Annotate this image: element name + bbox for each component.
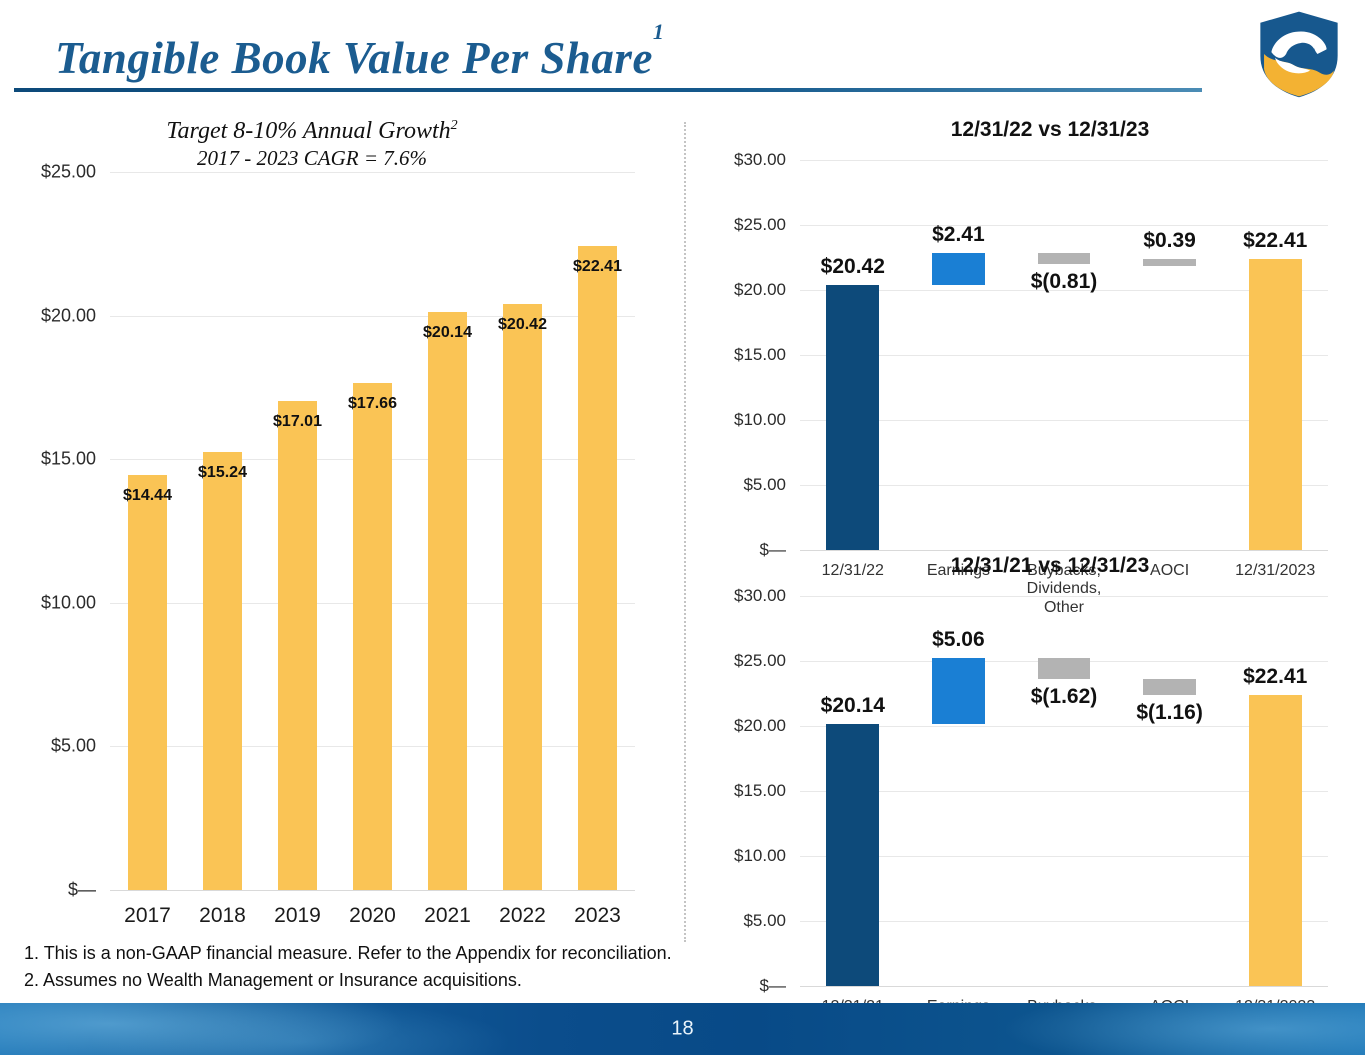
waterfall-bar-2 (932, 658, 985, 724)
y-axis-tick-label: $— (68, 880, 96, 901)
waterfall-value-label: $2.41 (932, 223, 985, 247)
waterfall-value-label: $5.06 (932, 628, 985, 652)
bar-2019 (278, 401, 317, 890)
footnote-1: 1. This is a non-GAAP financial measure.… (24, 940, 684, 967)
waterfall-2021-2023-chart: 12/31/21 vs 12/31/23 $—$5.00$10.00$15.00… (700, 548, 1340, 968)
y-axis-tick-label: $30.00 (734, 586, 786, 606)
bar-2022 (503, 304, 542, 890)
y-axis-tick-label: $— (760, 976, 786, 996)
y-axis-tick-label: $15.00 (734, 345, 786, 365)
waterfall-bar-5 (1249, 259, 1302, 550)
waterfall-value-label: $20.42 (821, 255, 885, 279)
tbvps-history-plot-area: $—$5.00$10.00$15.00$20.00$25.00$14.44201… (110, 172, 635, 890)
waterfall-bar-1 (826, 285, 879, 550)
waterfall-2021-2023-title: 12/31/21 vs 12/31/23 (760, 554, 1340, 578)
y-axis-tick-label: $20.00 (734, 280, 786, 300)
waterfall-value-label: $22.41 (1243, 665, 1307, 689)
y-axis-tick-label: $5.00 (51, 736, 96, 757)
waterfall-bar-4 (1143, 259, 1196, 266)
y-axis-tick-label: $5.00 (743, 911, 786, 931)
y-axis-tick-label: $10.00 (41, 592, 96, 613)
x-axis-label: 2018 (199, 904, 246, 928)
bar-value-label: $15.24 (198, 464, 247, 482)
left-chart-subtitle-main: Target 8-10% Annual Growth2 (0, 118, 624, 145)
bar-value-label: $22.41 (573, 258, 622, 276)
waterfall-bar-5 (1249, 695, 1302, 986)
eagle-shield-logo (1253, 8, 1345, 100)
x-axis-label: 2020 (349, 904, 396, 928)
gridline (110, 172, 635, 173)
y-axis-tick-label: $20.00 (734, 716, 786, 736)
bar-2021 (428, 312, 467, 890)
bar-value-label: $14.44 (123, 487, 172, 505)
waterfall-value-label: $22.41 (1243, 229, 1307, 253)
footnote-2: 2. Assumes no Wealth Management or Insur… (24, 967, 684, 994)
y-axis-tick-label: $25.00 (41, 162, 96, 183)
waterfall-value-label: $(1.62) (1031, 685, 1098, 709)
waterfall-2021-2023-plot-area: $—$5.00$10.00$15.00$20.00$25.00$30.00$20… (800, 596, 1328, 986)
y-axis-tick-label: $15.00 (734, 781, 786, 801)
y-axis-tick-label: $25.00 (734, 215, 786, 235)
bar-value-label: $20.42 (498, 316, 547, 334)
left-chart-subtitle-footnote-marker: 2 (451, 118, 458, 133)
page-title: Tangible Book Value Per Share1 (55, 32, 664, 84)
y-axis-tick-label: $30.00 (734, 150, 786, 170)
bar-value-label: $20.14 (423, 324, 472, 342)
waterfall-2022-2023-plot-area: $—$5.00$10.00$15.00$20.00$25.00$30.00$20… (800, 160, 1328, 550)
waterfall-bar-4 (1143, 679, 1196, 694)
header-divider-rule (14, 88, 1202, 92)
waterfall-2022-2023-chart: 12/31/22 vs 12/31/23 $—$5.00$10.00$15.00… (700, 112, 1340, 532)
gridline (110, 316, 635, 317)
bar-2018 (203, 452, 242, 890)
panel-divider (684, 122, 686, 942)
waterfall-bar-2 (932, 253, 985, 284)
waterfall-value-label: $(0.81) (1031, 270, 1098, 294)
footnotes: 1. This is a non-GAAP financial measure.… (24, 940, 684, 994)
slide-footer: 18 (0, 1003, 1365, 1055)
x-axis-label: 2022 (499, 904, 546, 928)
gridline (110, 890, 635, 891)
waterfall-bar-3 (1038, 658, 1091, 679)
waterfall-value-label: $0.39 (1143, 229, 1196, 253)
bar-2020 (353, 383, 392, 890)
left-chart-subtitle-text: Target 8-10% Annual Growth (166, 118, 450, 144)
page-title-text: Tangible Book Value Per Share (55, 33, 653, 83)
gridline (800, 160, 1328, 161)
y-axis-tick-label: $15.00 (41, 449, 96, 470)
bar-2023 (578, 246, 617, 890)
page-title-footnote-marker: 1 (653, 19, 665, 44)
x-axis-label: 2023 (574, 904, 621, 928)
tbvps-history-chart: Target 8-10% Annual Growth2 2017 - 2023 … (0, 110, 684, 940)
x-axis-label: 2017 (124, 904, 171, 928)
gridline (800, 225, 1328, 226)
y-axis-tick-label: $10.00 (734, 846, 786, 866)
x-axis-label: 2019 (274, 904, 321, 928)
waterfall-bar-1 (826, 724, 879, 986)
waterfall-2022-2023-title: 12/31/22 vs 12/31/23 (760, 118, 1340, 142)
bar-2017 (128, 475, 167, 890)
y-axis-tick-label: $20.00 (41, 305, 96, 326)
gridline (800, 986, 1328, 987)
waterfall-value-label: $(1.16) (1136, 701, 1203, 725)
waterfall-value-label: $20.14 (821, 694, 885, 718)
page-number: 18 (0, 1018, 1365, 1041)
slide: Tangible Book Value Per Share1 Target 8-… (0, 0, 1365, 1055)
y-axis-tick-label: $25.00 (734, 651, 786, 671)
bar-value-label: $17.66 (348, 395, 397, 413)
waterfall-bar-3 (1038, 253, 1091, 264)
gridline (800, 596, 1328, 597)
x-axis-label: 2021 (424, 904, 471, 928)
y-axis-tick-label: $5.00 (743, 475, 786, 495)
y-axis-tick-label: $10.00 (734, 410, 786, 430)
bar-value-label: $17.01 (273, 413, 322, 431)
